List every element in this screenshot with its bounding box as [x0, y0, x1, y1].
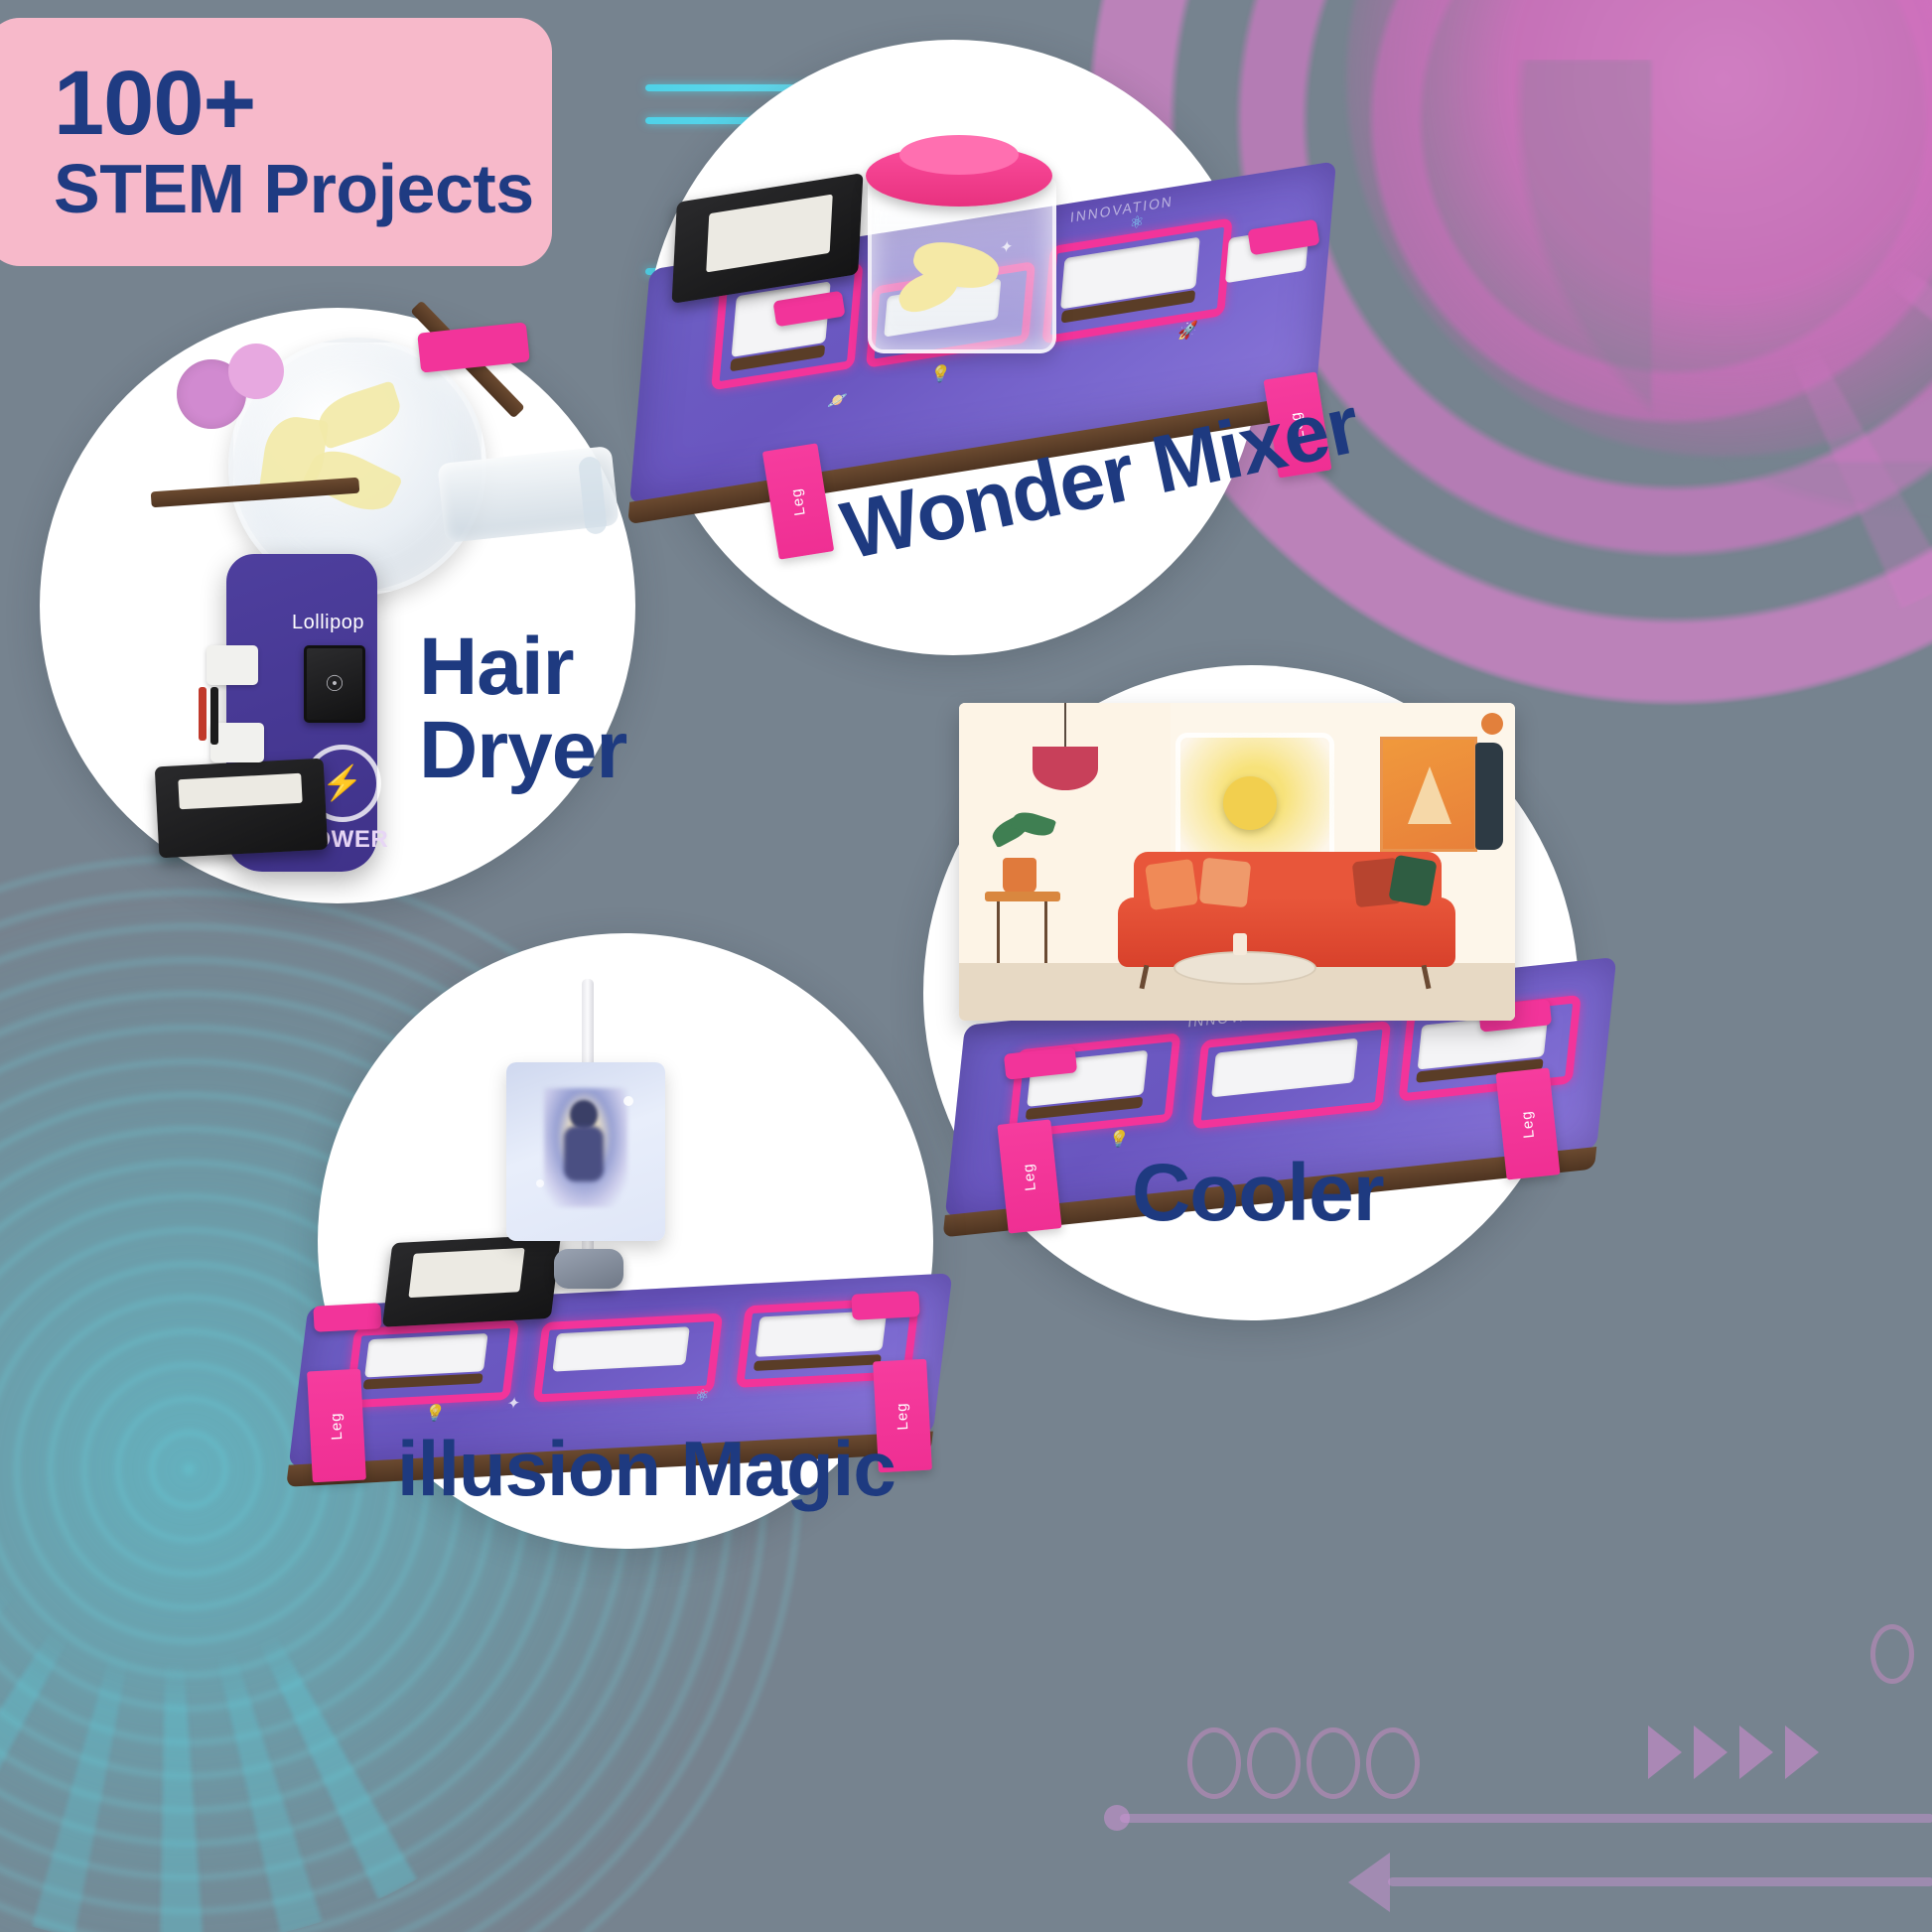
- magenta-ring-blocks-icon: [1455, 60, 1932, 576]
- plant-pot-icon: [1003, 858, 1036, 894]
- illusion-motor: [554, 1249, 623, 1289]
- product-label-hair-dryer: Hair Dryer: [419, 625, 626, 791]
- connector-icon: [207, 645, 258, 685]
- cushion-icon: [1199, 858, 1252, 908]
- poster-logo-icon: [1481, 713, 1503, 735]
- decor-circle-icon: [1870, 1624, 1914, 1684]
- doodle-bulb-icon: 💡: [424, 1403, 446, 1424]
- badge-count: 100+: [54, 58, 552, 149]
- decor-circle-icon: [1366, 1727, 1420, 1799]
- cooler-fan-hub: [1223, 776, 1277, 830]
- product-label-illusion-magic: illusion Magic: [397, 1430, 896, 1509]
- decor-arrow-left-icon: [1348, 1853, 1390, 1912]
- decor-triangle-icon: [1648, 1725, 1682, 1779]
- wire-black: [210, 687, 218, 745]
- product-card-cooler[interactable]: INNOVATION ✦ 🚀 💡 Leg Leg: [894, 655, 1668, 1350]
- leg-label: Leg: [328, 1412, 345, 1441]
- candle-icon: [1233, 933, 1247, 955]
- stem-projects-badge: 100+ STEM Projects: [0, 18, 552, 266]
- leg-label: Leg: [894, 1402, 911, 1431]
- decor-triangle-icon: [1785, 1725, 1819, 1779]
- cushion-icon: [1388, 855, 1437, 907]
- illusion-card: [506, 1062, 665, 1241]
- poster-canvas: 100+ STEM Projects Lollipop ☉ ⚡ POWER: [0, 0, 1932, 1932]
- coffee-table-icon: [1173, 951, 1316, 985]
- table-leg-icon: [997, 901, 1000, 963]
- dryer-ear-icon: [228, 344, 284, 399]
- board-leg[interactable]: Leg: [1496, 1067, 1561, 1179]
- product-card-wonder-mixer[interactable]: ✦ ⚛ 🚀 💡 🪐 INNOVATION Leg Leg Wonder Mi: [616, 30, 1370, 665]
- decor-line-icon: [1388, 1877, 1932, 1886]
- switch-glyph-icon: ☉: [325, 673, 345, 695]
- pink-switch[interactable]: [313, 1303, 381, 1332]
- wall-art-dark-icon: [1475, 743, 1503, 850]
- product-label-cooler: Cooler: [1132, 1152, 1384, 1235]
- doodle-atom-icon: ⚛: [694, 1385, 711, 1406]
- pink-switch[interactable]: [851, 1291, 919, 1320]
- illusion-sparkle-icon: [536, 1179, 544, 1187]
- dryer-brand-text: Lollipop: [292, 612, 364, 634]
- illusion-figure-body-icon: [564, 1126, 604, 1181]
- magenta-core-glow-icon: [1346, 0, 1932, 457]
- mixer-lid-top: [899, 135, 1019, 175]
- leg-label: Leg: [1020, 1162, 1039, 1191]
- product-card-illusion-magic[interactable]: ✦ ⚛ 💡 Leg Leg illusion Magic: [288, 923, 983, 1618]
- decor-circle-icon: [1187, 1727, 1241, 1799]
- board-leg[interactable]: Leg: [997, 1119, 1061, 1233]
- living-room-poster: [959, 703, 1515, 1021]
- decor-circle-icon: [1247, 1727, 1301, 1799]
- wall-art-triangle-icon: [1408, 766, 1451, 824]
- cushion-icon: [1145, 859, 1198, 910]
- pendant-lamp-icon: [1033, 747, 1098, 790]
- power-switch[interactable]: ☉: [304, 645, 365, 723]
- leg-label: Leg: [787, 486, 808, 516]
- badge-title: STEM Projects: [54, 153, 552, 226]
- decor-triangle-icon: [1739, 1725, 1773, 1779]
- decor-line-icon: [1120, 1814, 1932, 1823]
- decor-dot-icon: [1104, 1805, 1130, 1831]
- wire-red: [199, 687, 207, 741]
- lamp-cord: [1064, 703, 1066, 749]
- doodle-bulb-icon: 💡: [930, 362, 951, 386]
- doodle-star-icon: ✦: [505, 1393, 521, 1414]
- doodle-rocket-icon: 🚀: [1177, 320, 1198, 344]
- board-slot: [552, 1326, 690, 1371]
- doodle-planet-icon: 🪐: [827, 389, 848, 413]
- decor-circle-icon: [1307, 1727, 1360, 1799]
- illusion-sparkle-icon: [623, 1096, 633, 1106]
- connector-icon: [210, 723, 264, 762]
- doodle-bulb-icon: 💡: [1108, 1128, 1130, 1150]
- decor-triangle-icon: [1694, 1725, 1727, 1779]
- table-leg-icon: [1044, 901, 1047, 963]
- product-card-hair-dryer[interactable]: Lollipop ☉ ⚡ POWER Hair Dryer: [30, 298, 665, 933]
- board-leg[interactable]: Leg: [307, 1369, 366, 1483]
- leg-label: Leg: [1518, 1109, 1538, 1139]
- battery-label: [408, 1248, 524, 1298]
- board-slot: [364, 1333, 488, 1378]
- side-table-icon: [985, 892, 1060, 901]
